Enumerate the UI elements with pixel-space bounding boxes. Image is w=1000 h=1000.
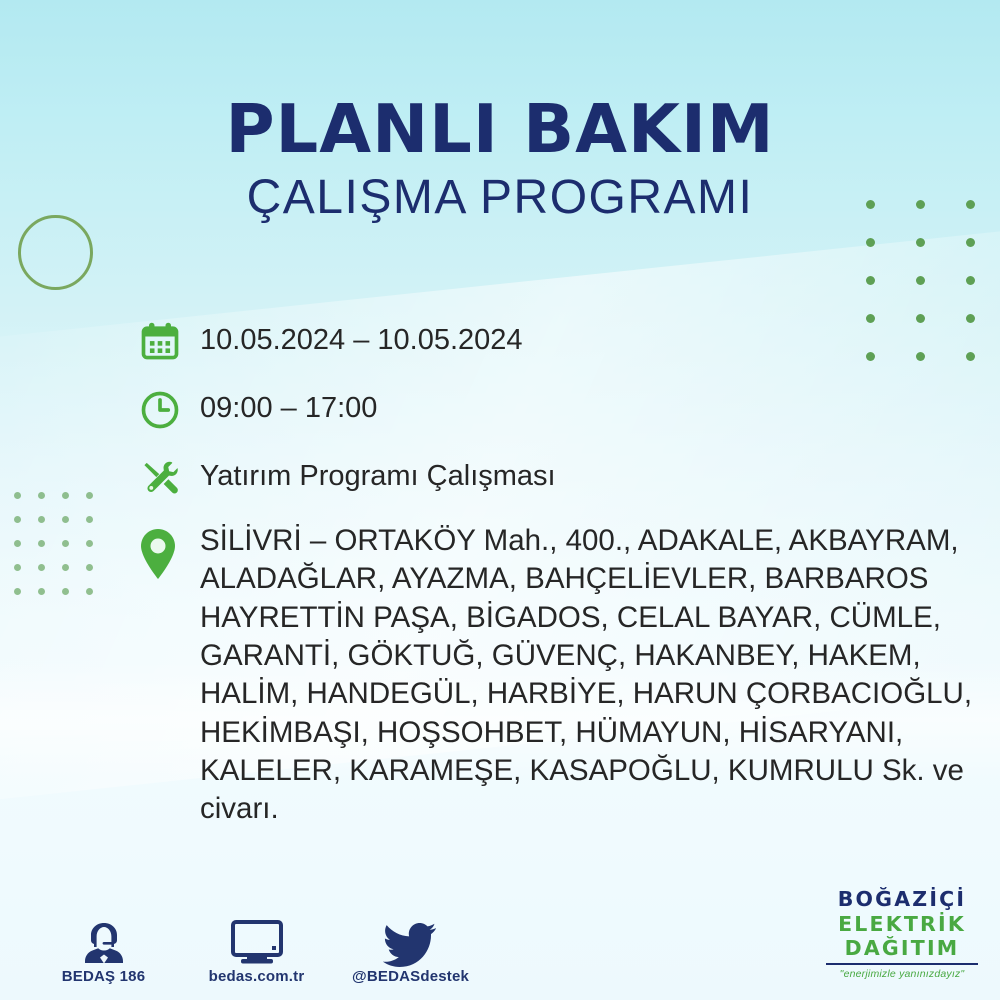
grid-dot bbox=[966, 238, 975, 247]
stripe-line bbox=[0, 0, 115, 32]
stripe-line bbox=[0, 0, 115, 76]
page-title: PLANLI BAKIM bbox=[0, 96, 1000, 163]
stripe-line bbox=[0, 0, 115, 10]
grid-dot bbox=[866, 238, 875, 247]
grid-dot bbox=[38, 588, 45, 595]
grid-dot bbox=[38, 540, 45, 547]
grid-dot bbox=[86, 588, 93, 595]
date-range-text: 10.05.2024 – 10.05.2024 bbox=[200, 318, 523, 358]
grid-dot bbox=[38, 516, 45, 523]
logo-line-bogazici: BOĞAZİÇİ bbox=[822, 887, 982, 911]
grid-dot bbox=[86, 492, 93, 499]
grid-dot bbox=[916, 238, 925, 247]
support-agent-icon bbox=[46, 912, 161, 968]
grid-dot bbox=[86, 516, 93, 523]
info-list: 10.05.2024 – 10.05.2024 09:00 – 17:00 bbox=[138, 318, 998, 829]
grid-dot bbox=[86, 540, 93, 547]
grid-dot bbox=[866, 276, 875, 285]
grid-dot bbox=[14, 540, 21, 547]
grid-dot bbox=[62, 564, 69, 571]
bedas-logo: BOĞAZİÇİ ELEKTRİK DAĞITIM "enerjimizle y… bbox=[822, 887, 982, 980]
poster-canvas: PLANLI BAKIM ÇALIŞMA PROGRAMI 10.05 bbox=[0, 0, 1000, 1000]
work-type-text: Yatırım Programı Çalışması bbox=[200, 454, 556, 494]
page-header: PLANLI BAKIM ÇALIŞMA PROGRAMI bbox=[0, 96, 1000, 222]
contact-phone[interactable]: BEDAŞ 186 bbox=[46, 912, 161, 986]
grid-dot bbox=[38, 564, 45, 571]
contact-twitter[interactable]: @BEDASdestek bbox=[352, 912, 467, 986]
grid-dot bbox=[14, 516, 21, 523]
grid-dot bbox=[14, 564, 21, 571]
grid-dot bbox=[14, 588, 21, 595]
logo-line-elektrik: ELEKTRİK bbox=[822, 912, 982, 936]
info-row-work-type: Yatırım Programı Çalışması bbox=[138, 454, 998, 500]
dot-grid-left-decoration bbox=[14, 492, 110, 612]
info-row-location: SİLİVRİ – ORTAKÖY Mah., 400., ADAKALE, A… bbox=[138, 522, 998, 829]
footer-contacts: BEDAŞ 186 bedas.com.tr @BEDASdestek bbox=[46, 912, 467, 986]
contact-website-label: bedas.com.tr bbox=[209, 968, 305, 985]
calendar-icon bbox=[138, 318, 200, 364]
info-row-time: 09:00 – 17:00 bbox=[138, 386, 998, 432]
info-row-date: 10.05.2024 – 10.05.2024 bbox=[138, 318, 998, 364]
grid-dot bbox=[14, 492, 21, 499]
contact-twitter-label: @BEDASdestek bbox=[352, 968, 469, 985]
tools-icon bbox=[138, 454, 200, 500]
clock-icon bbox=[138, 386, 200, 432]
time-range-text: 09:00 – 17:00 bbox=[200, 386, 377, 426]
twitter-bird-icon bbox=[352, 912, 467, 968]
grid-dot bbox=[966, 276, 975, 285]
stripe-line bbox=[0, 0, 115, 98]
page-subtitle: ÇALIŞMA PROGRAMI bbox=[0, 174, 1000, 222]
grid-dot bbox=[86, 564, 93, 571]
location-text: SİLİVRİ – ORTAKÖY Mah., 400., ADAKALE, A… bbox=[200, 522, 998, 829]
grid-dot bbox=[62, 516, 69, 523]
stripe-line bbox=[0, 0, 115, 54]
contact-phone-label: BEDAŞ 186 bbox=[62, 968, 146, 985]
grid-dot bbox=[916, 276, 925, 285]
logo-line-dagitim: DAĞITIM bbox=[822, 936, 982, 960]
circle-outline-decoration bbox=[18, 215, 93, 290]
grid-dot bbox=[38, 492, 45, 499]
grid-dot bbox=[62, 588, 69, 595]
grid-dot bbox=[62, 492, 69, 499]
logo-tagline: "enerjimizle yanınızdayız" bbox=[822, 968, 982, 980]
monitor-icon bbox=[199, 912, 314, 968]
contact-website[interactable]: bedas.com.tr bbox=[199, 912, 314, 986]
grid-dot bbox=[62, 540, 69, 547]
location-pin-icon bbox=[138, 522, 200, 580]
logo-divider bbox=[826, 963, 978, 965]
